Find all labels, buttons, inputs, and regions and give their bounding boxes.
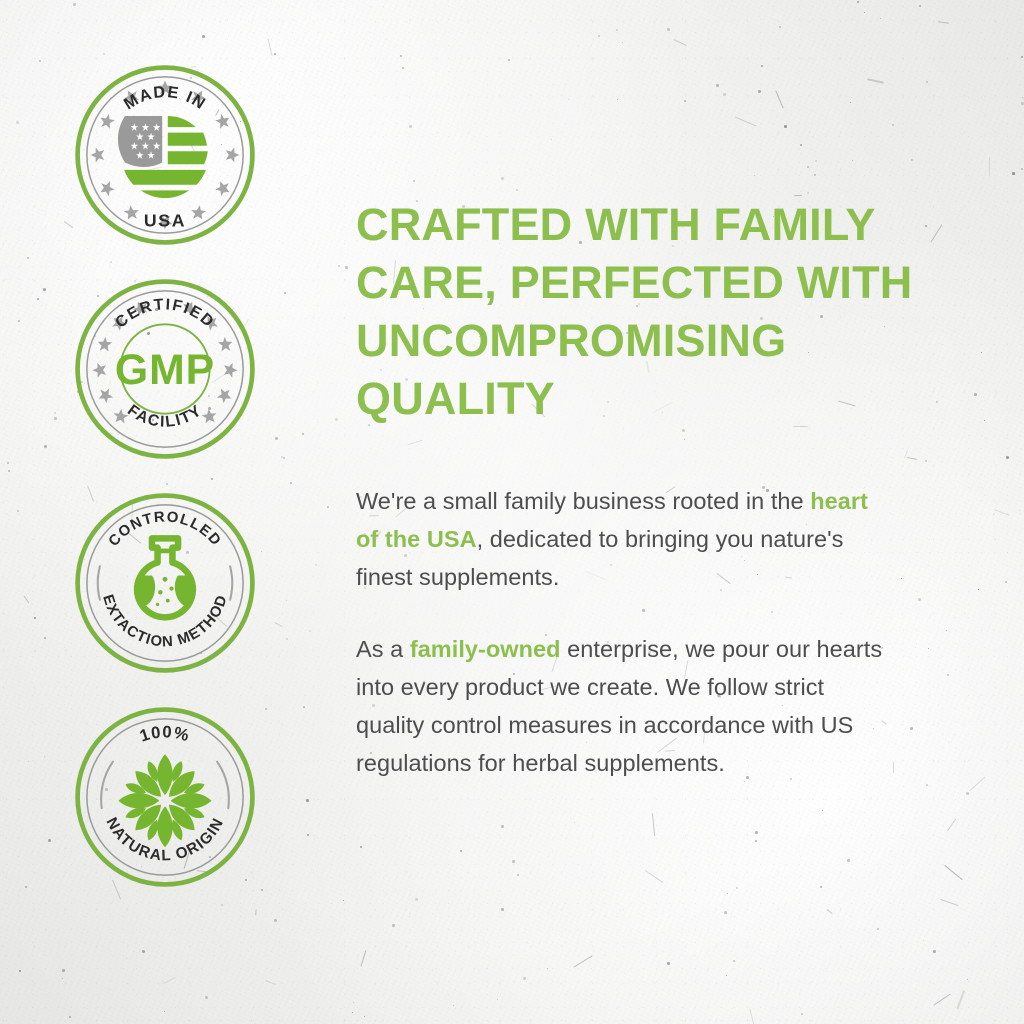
- page-headline: CRAFTED WITH FAMILY CARE, PERFECTED WITH…: [356, 196, 914, 428]
- svg-text:USA: USA: [144, 211, 186, 231]
- paragraph-2: As a family-owned enterprise, we pour ou…: [356, 630, 886, 782]
- usa-flag-shield-icon: [118, 116, 208, 198]
- promotional-graphic: MADE IN USA: [0, 0, 1024, 1024]
- badge-made-in-usa: MADE IN USA: [72, 62, 258, 248]
- body-text: We're a small family business rooted in …: [356, 488, 810, 514]
- svg-text:CONTROLLED: CONTROLLED: [106, 509, 224, 549]
- svg-text:MADE IN: MADE IN: [121, 83, 210, 113]
- emphasis-text: family-owned: [410, 636, 561, 662]
- body-copy: We're a small family business rooted in …: [356, 482, 914, 782]
- body-text: As a: [356, 636, 410, 662]
- svg-text:EXTACTION METHOD: EXTACTION METHOD: [99, 593, 231, 651]
- svg-text:CERTIFIED: CERTIFIED: [112, 296, 217, 331]
- svg-text:100%: 100%: [137, 722, 192, 745]
- badge-natural-origin: 100% NATURAL ORIGIN: [72, 704, 258, 890]
- gmp-text-icon: GMP: [115, 346, 215, 394]
- svg-text:FACILITY: FACILITY: [124, 402, 206, 431]
- badge-controlled-extraction: CONTROLLED EXTACTION METHOD: [72, 490, 258, 676]
- badge-star-ring: [91, 81, 240, 230]
- certification-badge-column: MADE IN USA: [0, 0, 330, 1024]
- paragraph-1: We're a small family business rooted in …: [356, 482, 886, 596]
- badge-gmp-certified: CERTIFIED GMP FACILITY: [72, 276, 258, 462]
- flask-leaf-icon: [137, 538, 194, 617]
- text-column: CRAFTED WITH FAMILY CARE, PERFECTED WITH…: [330, 0, 1024, 1024]
